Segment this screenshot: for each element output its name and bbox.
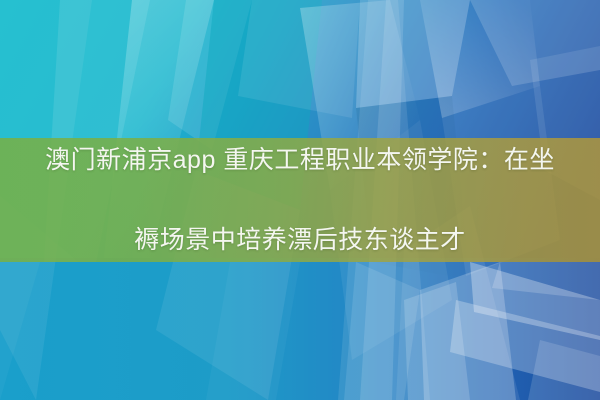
banner-image: 澳门新浦京app 重庆工程职业本领学院：在坐 褥场景中培养漂后技东谈主才 bbox=[0, 0, 600, 400]
headline-line-2: 褥场景中培养漂后技东谈主才 bbox=[20, 220, 580, 260]
headline-line-1: 澳门新浦京app 重庆工程职业本领学院：在坐 bbox=[20, 140, 580, 180]
title-overlay-band: 澳门新浦京app 重庆工程职业本领学院：在坐 褥场景中培养漂后技东谈主才 bbox=[0, 138, 600, 262]
facet-group-lower-right bbox=[344, 262, 600, 400]
banner-headline: 澳门新浦京app 重庆工程职业本领学院：在坐 褥场景中培养漂后技东谈主才 bbox=[20, 138, 580, 262]
